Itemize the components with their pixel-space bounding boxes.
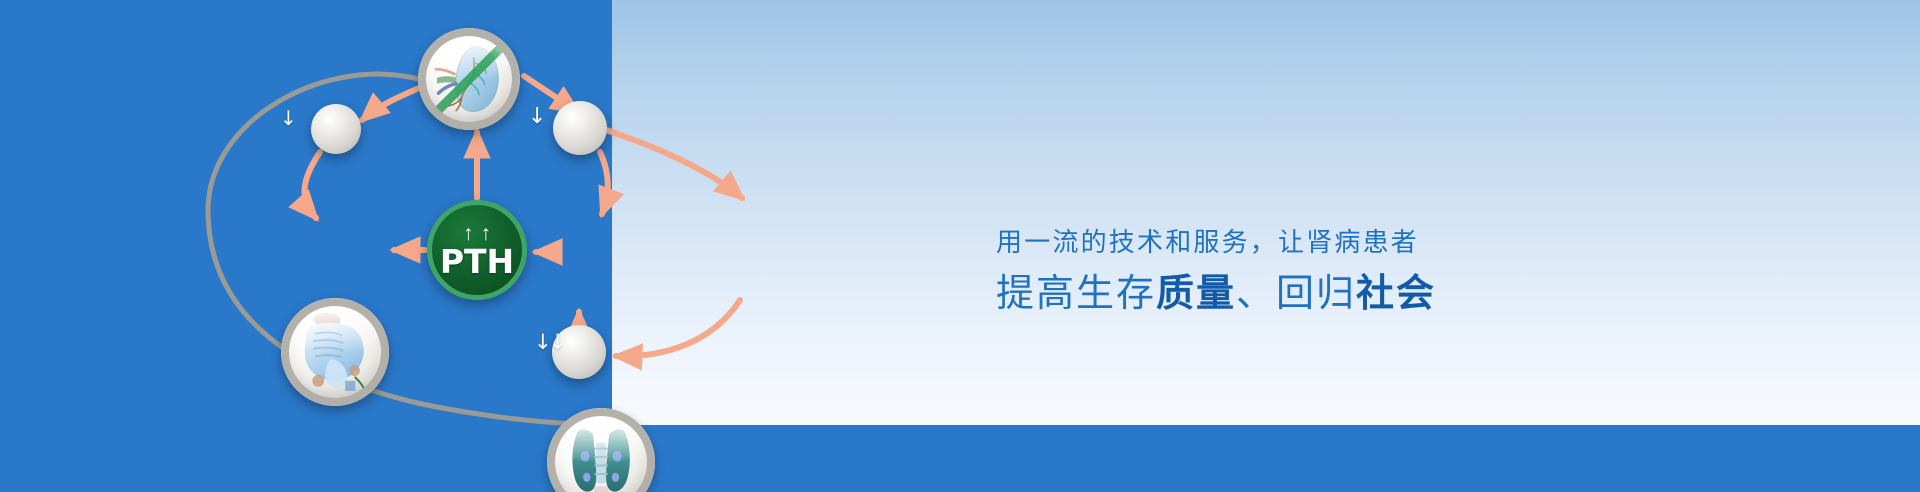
tagline-line-2-part-1: 提高生存 [996,271,1156,315]
connector-kidney-to-calcium [362,86,424,120]
tagline-line-2-part-3: 、回归 [1236,271,1356,315]
pth-trend-arrows: ↑↑ [463,223,498,244]
connector-calcium-to-bone [304,152,320,218]
calcium-phosphate-double-down-arrow-icon: ↓↓ [534,332,563,353]
tagline-block: 用一流的技术和服务，让肾病患者 提高生存质量、回归社会 [996,226,1676,318]
tagline-line-2-part-4: 社会 [1356,271,1436,315]
tagline-line-2: 提高生存质量、回归社会 [996,270,1676,318]
bone-pelvis-icon [293,310,377,394]
calcium-down-arrow-icon: ↓ [280,108,297,128]
connector-intestine-to-capo [616,300,740,356]
tagline-line-1: 用一流的技术和服务，让肾病患者 [996,226,1676,261]
tagline-line-2-part-2: 质量 [1156,271,1236,315]
calcium-sphere[interactable] [311,104,361,154]
phosphate-sphere[interactable] [553,101,607,155]
banner-root: ↑↑ PTH [0,0,1920,492]
connector-phosphate-to-parathyroid [600,152,608,214]
pth-label: PTH [440,245,514,278]
kidney-node[interactable] [418,28,520,130]
parathyroid-node[interactable] [547,408,655,492]
connector-phosphate-to-intestine [606,130,742,198]
pth-node[interactable]: ↑↑ PTH [427,200,527,300]
parathyroid-gland-icon [559,420,643,492]
kidney-icon [429,39,509,119]
bone-node[interactable] [281,298,389,406]
phosphate-down-arrow-icon: ↓ [528,106,546,128]
